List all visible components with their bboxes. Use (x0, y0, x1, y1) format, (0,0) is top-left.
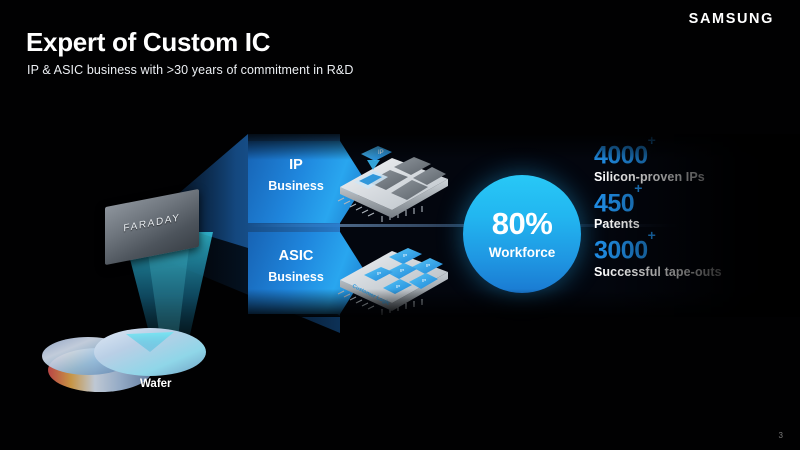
segment-subtitle: Business (248, 270, 344, 284)
page-number: 3 (779, 431, 783, 440)
svg-text:IP: IP (426, 263, 430, 268)
svg-text:IP: IP (422, 278, 426, 283)
stage-right-fade (600, 134, 800, 317)
wafer-illustration (38, 312, 228, 404)
workforce-circle: 80% Workforce (463, 175, 581, 293)
svg-text:IP: IP (403, 253, 407, 258)
faraday-chip: FARADAY (105, 198, 199, 256)
workforce-caption: Workforce (489, 245, 556, 260)
segment-title: ASIC (248, 248, 344, 264)
svg-text:IP: IP (377, 271, 381, 276)
slide-canvas: SAMSUNG Expert of Custom IC IP & ASIC bu… (0, 0, 800, 450)
segment-subtitle: Business (248, 179, 344, 193)
page-subtitle: IP & ASIC business with >30 years of com… (27, 63, 353, 77)
page-title: Expert of Custom IC (26, 27, 270, 58)
wafer-label: Wafer (140, 378, 172, 390)
workforce-value: 80% (492, 208, 553, 239)
samsung-logo: SAMSUNG (689, 11, 774, 27)
svg-text:IP: IP (400, 268, 404, 273)
